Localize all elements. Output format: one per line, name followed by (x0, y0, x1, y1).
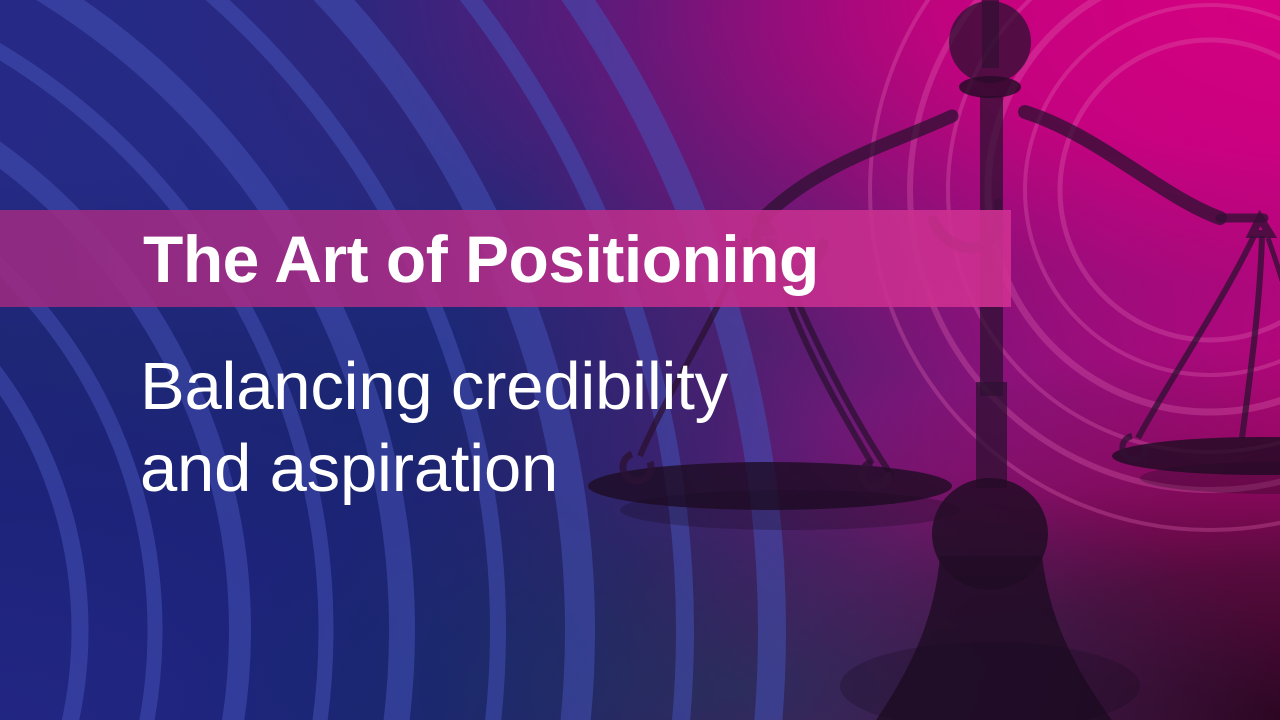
slide-subtitle-line-1: Balancing credibility (140, 346, 920, 428)
slide-canvas: The Art of Positioning Balancing credibi… (0, 0, 1280, 720)
slide-subtitle-line-2: and aspiration (140, 428, 920, 510)
slide-title: The Art of Positioning (143, 210, 819, 307)
slide-subtitle: Balancing credibility and aspiration (140, 346, 920, 510)
